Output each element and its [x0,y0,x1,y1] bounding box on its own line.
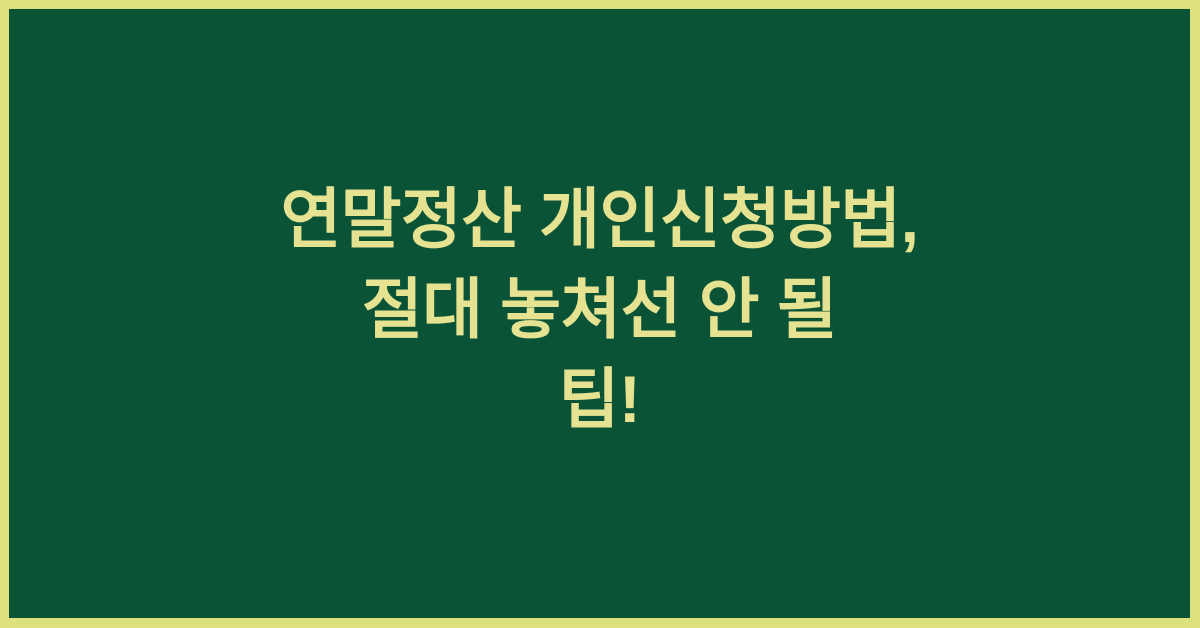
headline-line-3: 팁! [220,354,980,444]
headline-line-1: 연말정산 개인신청방법, [220,174,980,264]
headline-line-2: 절대 놓쳐선 안 될 [220,264,980,354]
page-title: 연말정산 개인신청방법, 절대 놓쳐선 안 될 팁! [220,174,980,444]
title-stage: 연말정산 개인신청방법, 절대 놓쳐선 안 될 팁! [9,9,1190,618]
thumbnail-card: 연말정산 개인신청방법, 절대 놓쳐선 안 될 팁! [0,0,1200,628]
